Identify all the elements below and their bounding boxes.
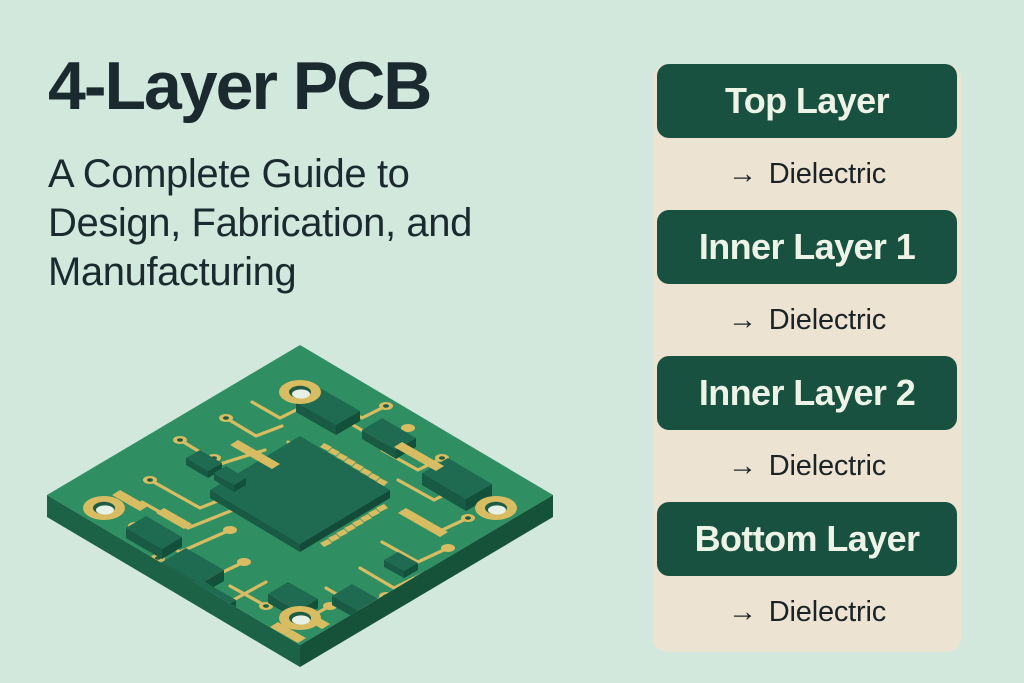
layer-card-bottom-layer[interactable]: Bottom Layer bbox=[657, 502, 957, 576]
layer-card-label: Inner Layer 2 bbox=[699, 372, 915, 414]
page-subtitle-line-2: Design, Fabrication, and bbox=[48, 199, 588, 248]
dielectric-label: Dielectric bbox=[769, 158, 886, 191]
page-subtitle-line-1: A Complete Guide to bbox=[48, 150, 588, 199]
arrow-right-icon: → bbox=[728, 452, 757, 481]
layer-card-label: Top Layer bbox=[725, 80, 889, 122]
dielectric-label: Dielectric bbox=[769, 596, 886, 629]
layer-stack-panel: Top Layer → Dielectric Inner Layer 1 → D… bbox=[653, 64, 961, 652]
page-subtitle: A Complete Guide to Design, Fabrication,… bbox=[48, 150, 588, 296]
arrow-right-icon: → bbox=[728, 598, 757, 627]
dielectric-label: Dielectric bbox=[769, 450, 886, 483]
arrow-right-icon: → bbox=[728, 160, 757, 189]
dielectric-row-4: → Dielectric bbox=[653, 576, 961, 648]
hero-text-column: 4-Layer PCB A Complete Guide to Design, … bbox=[48, 52, 628, 296]
pcb-board-illustration bbox=[30, 330, 590, 670]
page-title: 4-Layer PCB bbox=[48, 52, 628, 120]
layer-card-label: Bottom Layer bbox=[695, 518, 920, 560]
dielectric-label: Dielectric bbox=[769, 304, 886, 337]
arrow-right-icon: → bbox=[728, 306, 757, 335]
dielectric-row-1: → Dielectric bbox=[653, 138, 961, 210]
layer-card-inner-layer-2[interactable]: Inner Layer 2 bbox=[657, 356, 957, 430]
layer-card-inner-layer-1[interactable]: Inner Layer 1 bbox=[657, 210, 957, 284]
dielectric-row-2: → Dielectric bbox=[653, 284, 961, 356]
dielectric-row-3: → Dielectric bbox=[653, 430, 961, 502]
layer-card-label: Inner Layer 1 bbox=[699, 226, 915, 268]
page-subtitle-line-3: Manufacturing bbox=[48, 248, 588, 297]
layer-card-top-layer[interactable]: Top Layer bbox=[657, 64, 957, 138]
